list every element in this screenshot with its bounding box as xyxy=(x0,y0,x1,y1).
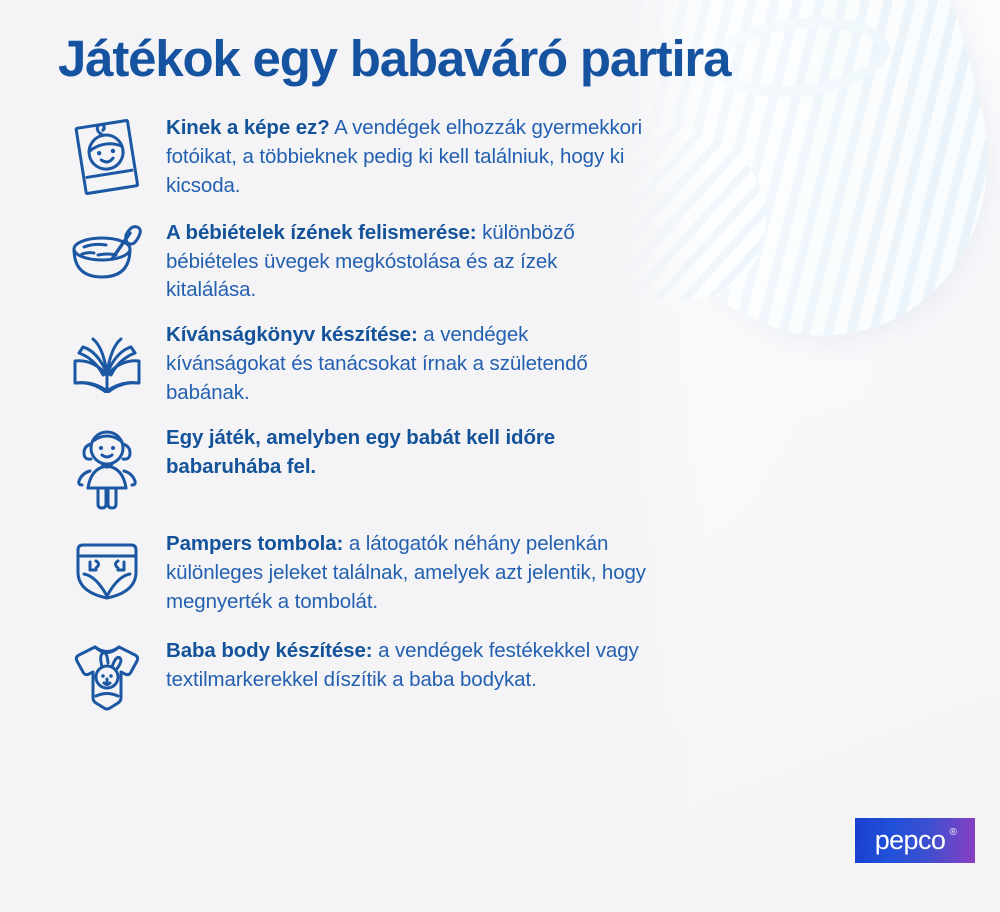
list-item-text-cell: Baba body készítése: a vendégek festékek… xyxy=(166,635,648,695)
list-item: A bébiételek ízének felismerése: különbö… xyxy=(48,217,648,306)
page-title: Játékok egy babaváró partira xyxy=(58,32,730,86)
baby-shower-photo-collage: love xyxy=(590,0,1000,912)
doll-icon xyxy=(72,426,142,512)
list-item-text-cell: Pampers tombola: a látogatók néhány pele… xyxy=(166,528,648,617)
list-item: Baba body készítése: a vendégek festékek… xyxy=(48,635,648,715)
diaper-icon xyxy=(68,532,146,604)
bowl-with-spoon-icon xyxy=(68,221,146,291)
list-item-text-cell: Egy játék, amelyben egy babát kell időre… xyxy=(166,422,648,482)
list-item: Pampers tombola: a látogatók néhány pele… xyxy=(48,528,648,617)
list-item: Egy játék, amelyben egy babát kell időre… xyxy=(48,422,648,512)
infographic-canvas: love Játékok egy babaváró partira xyxy=(0,0,1000,912)
list-item-text-cell: Kinek a képe ez? A vendégek elhozzák gye… xyxy=(166,112,648,201)
list-item-icon-cell xyxy=(48,422,166,512)
list-item-icon-cell xyxy=(48,217,166,291)
list-item-icon-cell xyxy=(48,528,166,604)
polaroid-baby-photo-icon xyxy=(71,116,143,200)
list-item-text: Pampers tombola: a látogatók néhány pele… xyxy=(166,530,648,617)
list-item-text: Kívánságkönyv készítése: a vendégek kívá… xyxy=(166,321,648,408)
list-item-bold: Kívánságkönyv készítése: xyxy=(166,323,418,346)
pepco-logo[interactable]: pepco® xyxy=(855,818,975,863)
list-item-icon-cell xyxy=(48,112,166,200)
list-item-text-cell: A bébiételek ízének felismerése: különbö… xyxy=(166,217,648,306)
baby-bodysuit-bunny-icon xyxy=(67,639,147,715)
registered-trademark-icon: ® xyxy=(950,828,957,838)
list-item: Kívánságkönyv készítése: a vendégek kívá… xyxy=(48,319,648,408)
games-list: Kinek a képe ez? A vendégek elhozzák gye… xyxy=(48,112,648,729)
list-item: Kinek a képe ez? A vendégek elhozzák gye… xyxy=(48,112,648,201)
list-item-text: Kinek a képe ez? A vendégek elhozzák gye… xyxy=(166,114,648,201)
list-item-icon-cell xyxy=(48,319,166,393)
list-item-bold: Kinek a képe ez? xyxy=(166,116,330,139)
list-item-bold: Baba body készítése: xyxy=(166,639,373,662)
pepco-logo-text: pepco® xyxy=(875,827,956,854)
list-item-text: Egy játék, amelyben egy babát kell időre… xyxy=(166,424,648,482)
open-book-icon xyxy=(67,323,147,393)
list-item-text: A bébiételek ízének felismerése: különbö… xyxy=(166,219,648,306)
list-item-bold: Pampers tombola: xyxy=(166,532,343,555)
list-item-icon-cell xyxy=(48,635,166,715)
list-item-bold: A bébiételek ízének felismerése: xyxy=(166,221,477,244)
list-item-text: Baba body készítése: a vendégek festékek… xyxy=(166,637,648,695)
list-item-text-cell: Kívánságkönyv készítése: a vendégek kívá… xyxy=(166,319,648,408)
